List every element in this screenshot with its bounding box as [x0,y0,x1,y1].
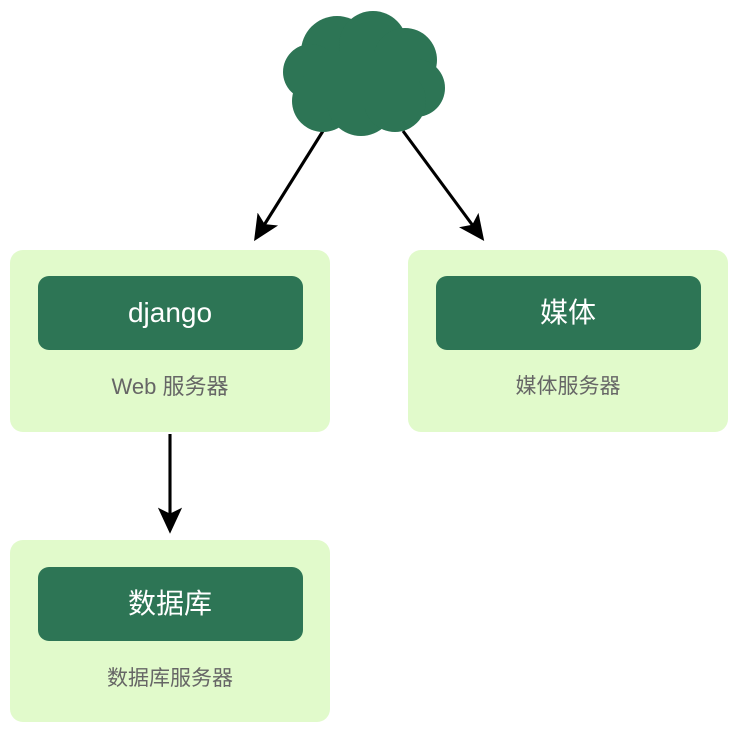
node-database-server-caption: 数据库服务器 [107,668,233,689]
node-database-server[interactable]: 数据库 数据库服务器 [10,540,330,722]
node-media-server-chip[interactable]: 媒体 [436,276,701,350]
cloud-node[interactable] [275,8,455,148]
node-web-server-caption: Web 服务器 [112,376,229,398]
node-web-server[interactable]: django Web 服务器 [10,250,330,432]
architecture-diagram: django Web 服务器 媒体 媒体服务器 数据库 数据库服务器 [0,0,740,740]
node-media-server-caption: 媒体服务器 [516,376,621,397]
cloud-icon [275,8,455,148]
node-media-server[interactable]: 媒体 媒体服务器 [408,250,728,432]
node-database-server-chip[interactable]: 数据库 [38,567,303,641]
node-web-server-chip[interactable]: django [38,276,303,350]
